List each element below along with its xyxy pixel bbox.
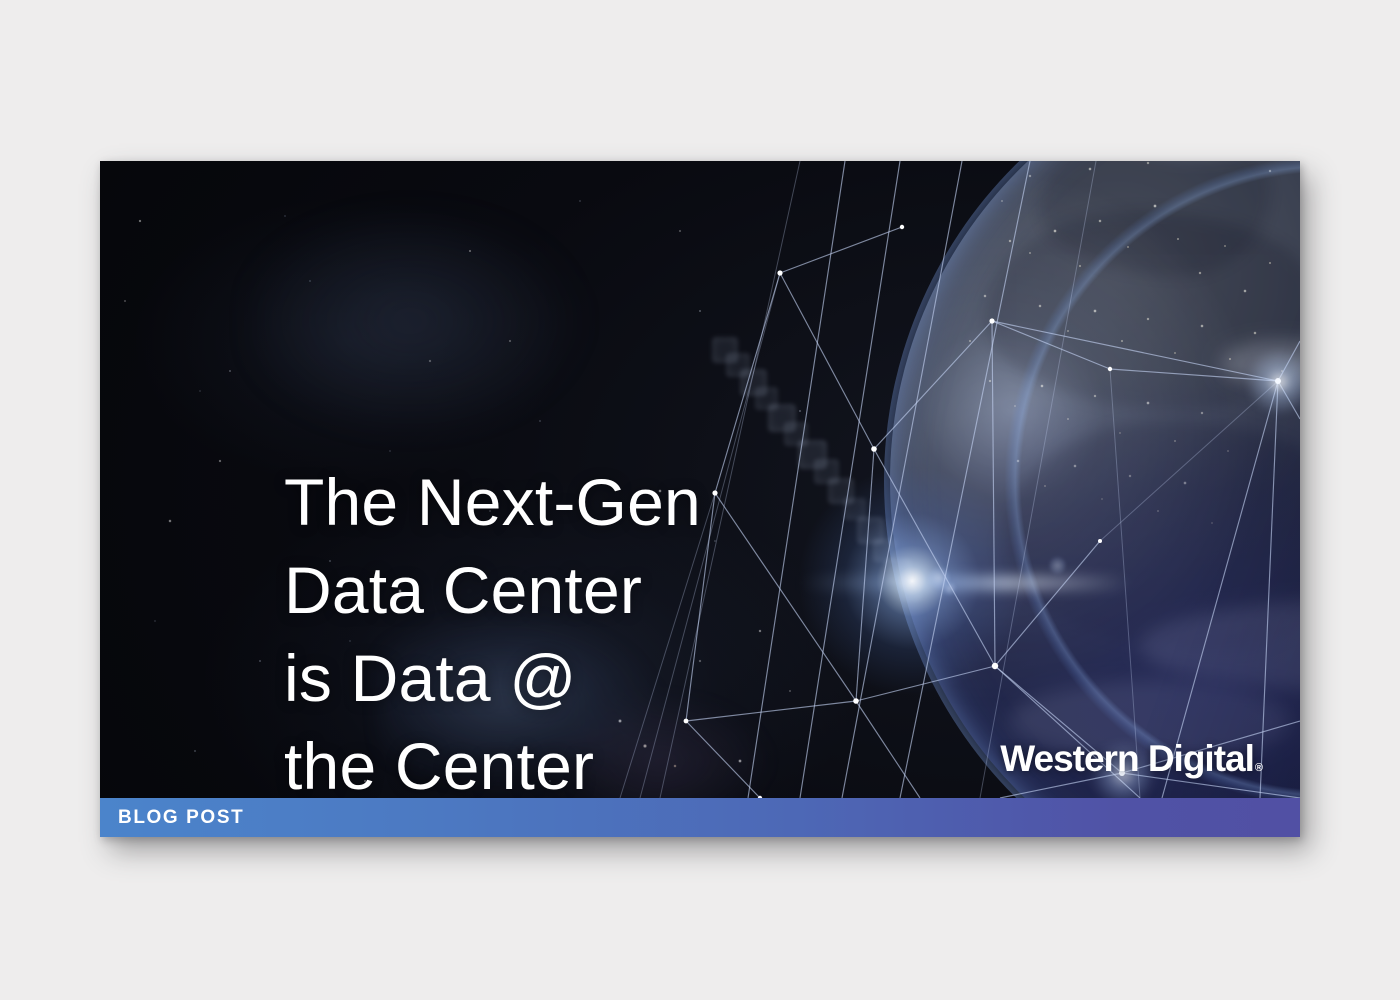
brand-name: Western Digital [1000, 738, 1254, 779]
status-badge: BLOG POST [118, 807, 244, 829]
western-digital-logo: Western Digital® [1000, 738, 1262, 780]
blog-post-hero-card[interactable]: The Next-Gen Data Center is Data @ the C… [100, 161, 1300, 837]
terminator-shading [890, 161, 1300, 798]
page-title: The Next-Gen Data Center is Data @ the C… [284, 458, 701, 810]
blog-post-banner[interactable]: BLOG POST [100, 798, 1300, 837]
registered-trademark-icon: ® [1255, 762, 1263, 774]
earth-globe [890, 161, 1300, 798]
